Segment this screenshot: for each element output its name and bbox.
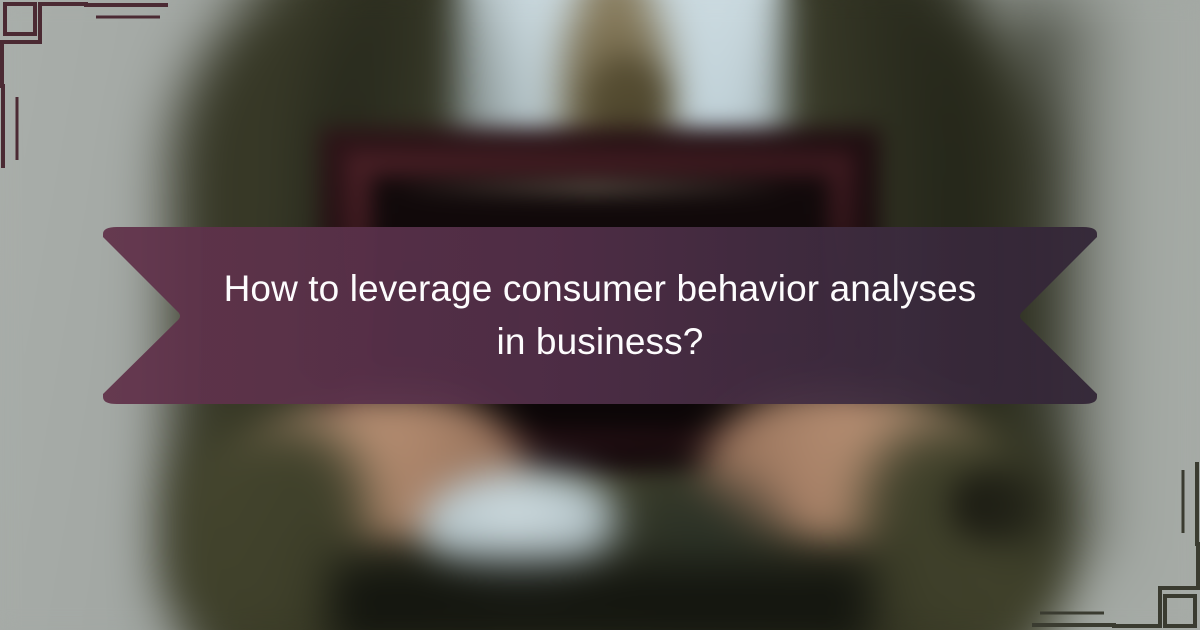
- photo-belt-shadow: [330, 560, 870, 630]
- headline-ribbon: How to leverage consumer behavior analys…: [103, 227, 1097, 404]
- photo-frame-highlight-top: [392, 182, 792, 194]
- headline-text-block: How to leverage consumer behavior analys…: [103, 227, 1097, 404]
- hero-banner-canvas: How to leverage consumer behavior analys…: [0, 0, 1200, 630]
- headline-line-2: in business?: [497, 316, 704, 369]
- headline-line-1: How to leverage consumer behavior analys…: [224, 263, 977, 316]
